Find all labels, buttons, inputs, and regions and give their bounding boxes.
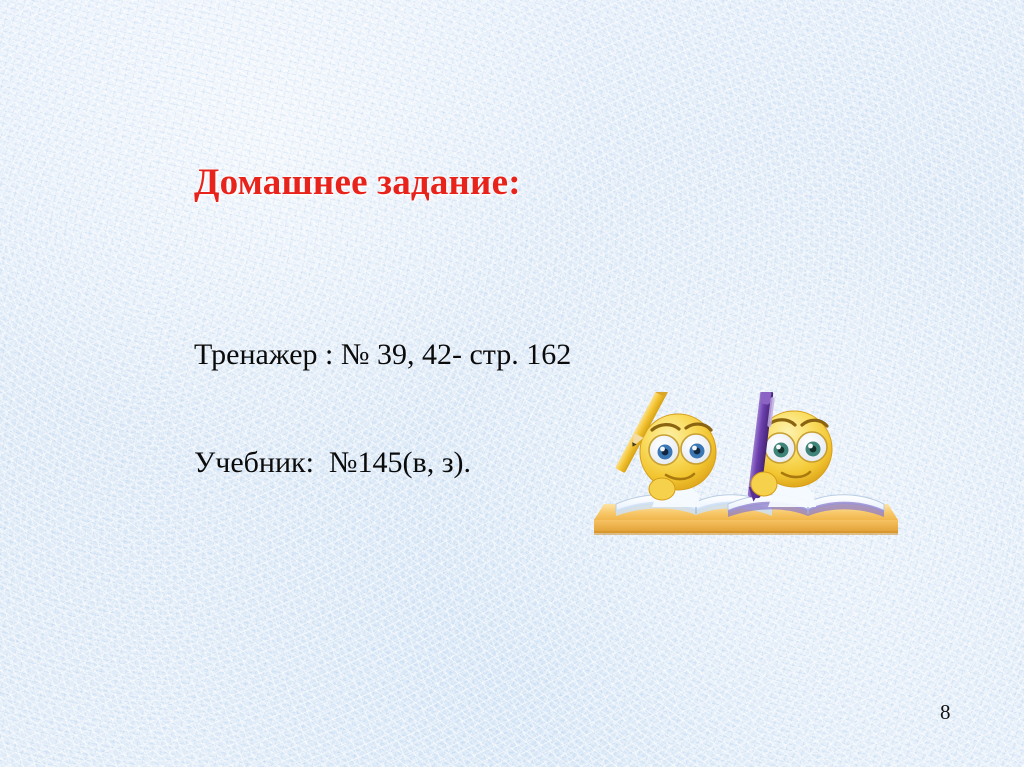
- page-title: Домашнее задание:: [194, 161, 521, 204]
- smiley-with-pencil: [615, 392, 716, 507]
- assignment-line-trenazher: Тренажер : № 39, 42- стр. 162: [194, 337, 571, 373]
- illustration-two-smileys-writing: [586, 392, 906, 552]
- slide-content: Домашнее задание: Тренажер : № 39, 42- с…: [0, 0, 1024, 767]
- page-number: 8: [940, 700, 951, 725]
- assignment-list: Тренажер : № 39, 42- стр. 162 Учебник: №…: [194, 265, 571, 553]
- assignment-line-uchebnik: Учебник: №145(в, з).: [194, 445, 571, 481]
- slide: Домашнее задание: Тренажер : № 39, 42- с…: [0, 0, 1024, 767]
- smiley-with-pen: [747, 392, 832, 507]
